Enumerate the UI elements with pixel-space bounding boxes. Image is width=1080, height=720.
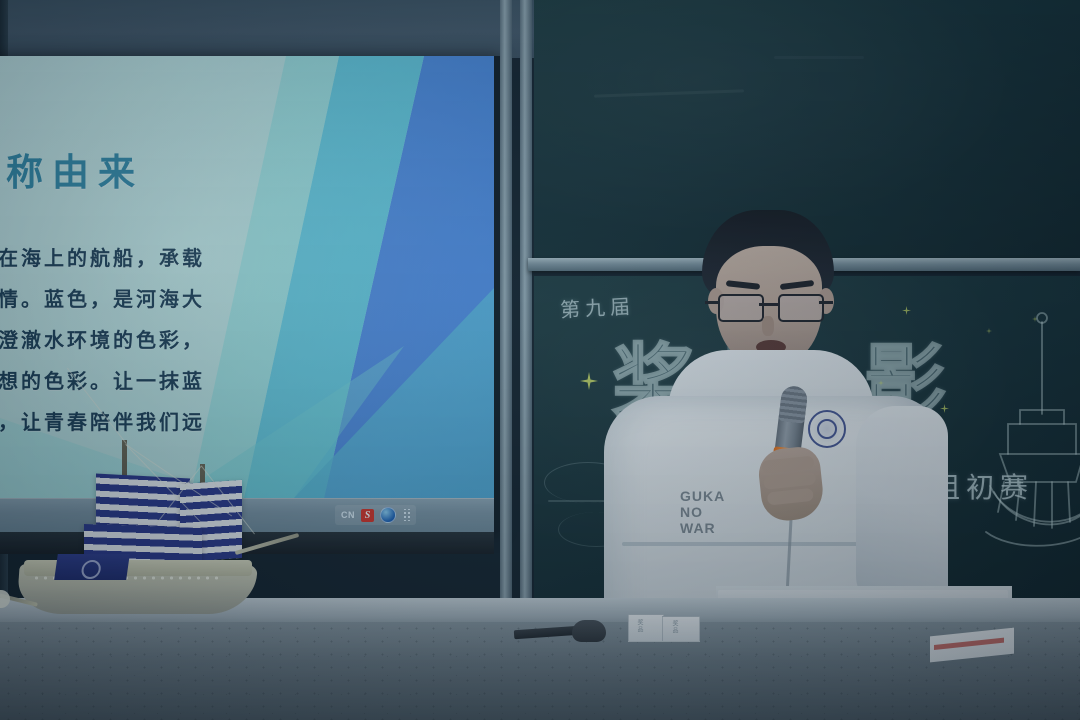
blackboard-frame-rail-left bbox=[500, 0, 512, 640]
system-tray[interactable]: CN S bbox=[335, 505, 416, 525]
model-sailing-ship bbox=[10, 438, 290, 620]
slide-line: 如同在海上的航船，承载 bbox=[0, 238, 372, 279]
white-box[interactable]: 奖品 bbox=[662, 616, 700, 642]
ime-indicator-icon[interactable]: CN bbox=[341, 510, 355, 520]
blackboard-frame-rail-inner bbox=[520, 0, 532, 640]
slide-line: 青春，让青春陪伴我们远 bbox=[0, 402, 372, 443]
tray-overflow-icon[interactable] bbox=[402, 509, 410, 521]
chalk-ship-drawing bbox=[980, 306, 1080, 556]
presenter-nose bbox=[762, 316, 774, 336]
slide-line: 子梦想的色彩。让一抹蓝 bbox=[0, 361, 372, 402]
jacket-slogan-line: GUKA bbox=[680, 488, 725, 504]
classroom-scene: 名称由来 如同在海上的航船，承载 与热情。蓝色，是河海大 ，是澄澈水环境的色彩，… bbox=[0, 0, 1080, 720]
jacket-slogan-text: GUKA NO WAR bbox=[680, 488, 725, 536]
ship-bowsprit bbox=[235, 533, 300, 555]
slide-line: ，是澄澈水环境的色彩， bbox=[0, 320, 372, 361]
jacket-seam bbox=[622, 542, 872, 546]
blue-round-app-icon[interactable] bbox=[380, 507, 396, 523]
slide-title: 名称由来 bbox=[0, 142, 144, 196]
sogou-input-icon[interactable]: S bbox=[361, 509, 374, 522]
computer-mouse[interactable] bbox=[572, 620, 606, 642]
jacket-emblem-icon bbox=[808, 410, 846, 448]
presenter: GUKA NO WAR bbox=[590, 210, 950, 640]
paper-card-stripe bbox=[934, 638, 1004, 650]
white-box[interactable]: 奖品 bbox=[628, 614, 664, 642]
presenter-right-arm bbox=[856, 406, 948, 612]
jacket-slogan-line: NO bbox=[680, 504, 725, 520]
upper-wall-band bbox=[0, 0, 540, 58]
projected-slide: 名称由来 如同在海上的航船，承载 与热情。蓝色，是河海大 ，是澄澈水环境的色彩，… bbox=[0, 56, 494, 498]
slide-line: 与热情。蓝色，是河海大 bbox=[0, 279, 372, 320]
ship-flag bbox=[54, 554, 130, 580]
flag-emblem-icon bbox=[80, 560, 102, 579]
slide-body-text: 如同在海上的航船，承载 与热情。蓝色，是河海大 ，是澄澈水环境的色彩， 子梦想的… bbox=[0, 238, 372, 443]
jacket-slogan-line: WAR bbox=[680, 520, 725, 536]
microphone-head bbox=[778, 385, 808, 424]
